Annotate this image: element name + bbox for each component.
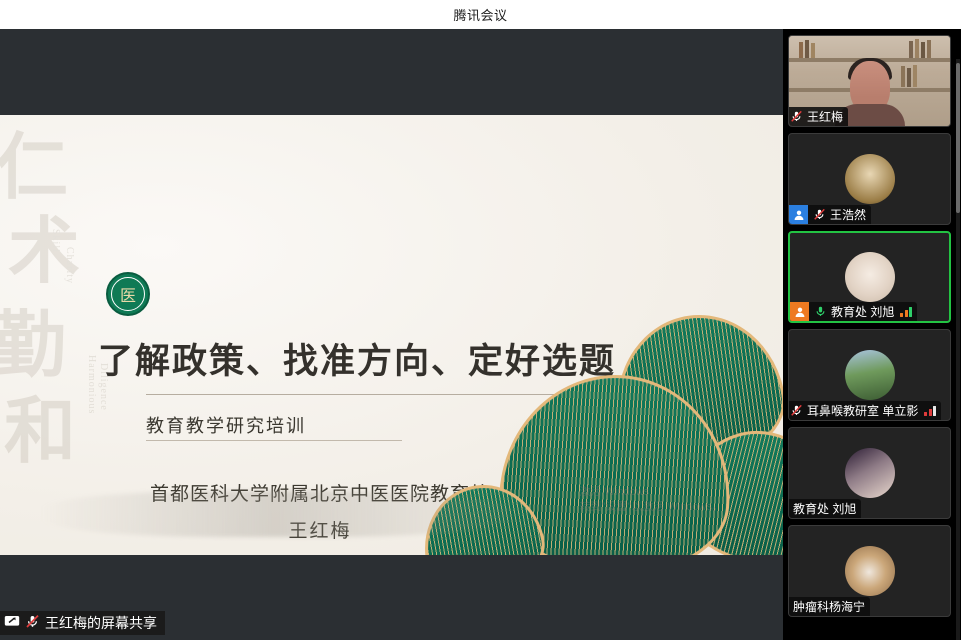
watermark-char-ren: 仁 [0, 133, 68, 201]
participant-tile-active-speaker[interactable]: 教育处 刘旭 [788, 231, 951, 323]
host-icon [790, 302, 809, 321]
participant-name: 教育处 刘旭 [831, 303, 894, 320]
mic-active-icon [813, 304, 827, 319]
participant-tile[interactable]: 教育处 刘旭 [788, 427, 951, 519]
participant-name: 肿瘤科杨海宁 [793, 598, 865, 615]
mic-muted-icon [789, 109, 803, 124]
avatar [845, 448, 895, 498]
presentation-slide[interactable]: 仁 术 勤 和 Skill Charity Harmonious Diligen… [0, 115, 783, 555]
participant-namebar: 肿瘤科杨海宁 [789, 597, 870, 616]
logo-ring: 医 [111, 277, 145, 311]
participant-namebar: 王红梅 [789, 107, 848, 126]
avatar [845, 252, 895, 302]
participant-name: 耳鼻喉教研室 单立影 [807, 402, 918, 419]
signal-strength-icon [900, 306, 912, 317]
activation-line-1: 激活 Windows [580, 485, 724, 500]
participant-tile[interactable]: 王红梅 [788, 35, 951, 127]
ink-brush-stroke [40, 491, 510, 537]
shared-screen-stage[interactable]: 仁 术 勤 和 Skill Charity Harmonious Diligen… [0, 29, 783, 640]
screen-share-icon [4, 615, 20, 631]
participant-tile[interactable]: 王浩然 [788, 133, 951, 225]
signal-strength-icon [924, 405, 936, 416]
avatar [845, 154, 895, 204]
participant-name: 王红梅 [807, 108, 843, 125]
screen-share-owner: 王红梅的屏幕共享 [45, 613, 157, 633]
participant-name: 教育处 刘旭 [793, 500, 856, 517]
attendee-icon [789, 205, 808, 224]
avatar [845, 350, 895, 400]
screen-share-label: 王红梅的屏幕共享 [0, 611, 165, 635]
slide-subtitle: 教育教学研究培训 [146, 412, 306, 438]
watermark-en-skill: Skill [50, 229, 61, 253]
hospital-logo-icon: 医 [106, 272, 150, 316]
activation-line-2: 转到"设置"以激活 Windows。 [580, 500, 724, 515]
logo-glyph: 医 [120, 282, 136, 306]
rail-scrollbar-thumb[interactable] [956, 63, 960, 213]
window-title: 腾讯会议 [453, 5, 507, 24]
mic-muted-icon [25, 614, 40, 632]
participant-namebar: 教育处 刘旭 [790, 302, 917, 321]
participant-rail[interactable]: 王红梅 [783, 29, 961, 640]
participant-tile[interactable]: 肿瘤科杨海宁 [788, 525, 951, 617]
watermark-char-qin: 勤 [0, 311, 66, 379]
participant-namebar: 教育处 刘旭 [789, 499, 861, 518]
subtitle-divider [146, 440, 402, 441]
tencent-meeting-window: 腾讯会议 仁 术 勤 和 Skill Charity Harmonious Di… [0, 0, 961, 640]
watermark-en-charity: Charity [64, 247, 75, 284]
participant-namebar: 耳鼻喉教研室 单立影 [789, 401, 941, 420]
window-titlebar: 腾讯会议 [0, 0, 961, 29]
windows-activation-watermark: 激活 Windows 转到"设置"以激活 Windows。 [580, 485, 724, 515]
mic-muted-icon [789, 403, 803, 418]
watermark-en-harmonious: Harmonious [86, 355, 97, 414]
participant-tile[interactable]: 耳鼻喉教研室 单立影 [788, 329, 951, 421]
watermark-char-he: 和 [4, 397, 76, 465]
participant-namebar: 王浩然 [789, 205, 871, 224]
participant-name: 王浩然 [830, 206, 866, 223]
avatar [845, 546, 895, 596]
mic-muted-icon [812, 207, 826, 222]
